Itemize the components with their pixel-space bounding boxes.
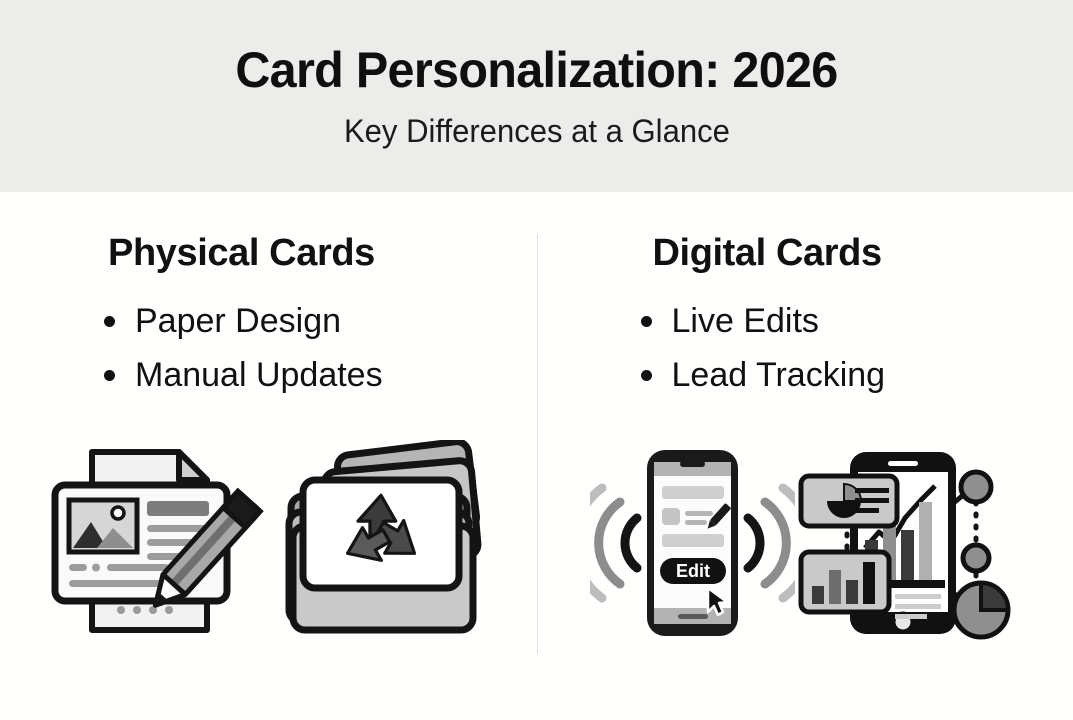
column-heading-physical: Physical Cards xyxy=(108,234,375,272)
bullet-dot-icon xyxy=(104,370,115,381)
bullet-dot-icon xyxy=(641,316,652,327)
bullet-label: Paper Design xyxy=(135,304,341,338)
bullet-dot-icon xyxy=(641,370,652,381)
column-physical-cards: Physical Cards Paper Design Manual Updat… xyxy=(0,192,537,720)
bullet-label: Manual Updates xyxy=(135,358,383,392)
document-with-pencil-icon xyxy=(47,440,277,650)
mobile-analytics-dashboard-icon xyxy=(795,440,1020,650)
edit-button-label: Edit xyxy=(676,561,710,581)
header-band: Card Personalization: 2026 Key Differenc… xyxy=(0,0,1073,192)
icon-row-digital: Edit xyxy=(537,440,1073,650)
smartphone-live-edit-icon: Edit xyxy=(590,440,795,650)
infographic-canvas: Card Personalization: 2026 Key Differenc… xyxy=(0,0,1073,720)
bullet-label: Lead Tracking xyxy=(672,358,886,392)
bullet-list-physical: Paper Design Manual Updates xyxy=(104,304,383,412)
icon-row-physical xyxy=(0,440,537,650)
comparison-columns: Physical Cards Paper Design Manual Updat… xyxy=(0,192,1073,720)
column-digital-cards: Digital Cards Live Edits Lead Tracking xyxy=(537,192,1073,720)
bullet-dot-icon xyxy=(104,316,115,327)
column-heading-digital: Digital Cards xyxy=(653,234,882,272)
page-subtitle: Key Differences at a Glance xyxy=(344,115,730,147)
list-item: Lead Tracking xyxy=(641,358,886,392)
list-item: Live Edits xyxy=(641,304,886,338)
column-divider xyxy=(537,234,538,654)
recycled-card-stack-icon xyxy=(277,440,489,650)
bullet-list-digital: Live Edits Lead Tracking xyxy=(641,304,886,412)
bullet-label: Live Edits xyxy=(672,304,819,338)
page-title: Card Personalization: 2026 xyxy=(235,45,837,95)
list-item: Paper Design xyxy=(104,304,383,338)
list-item: Manual Updates xyxy=(104,358,383,392)
